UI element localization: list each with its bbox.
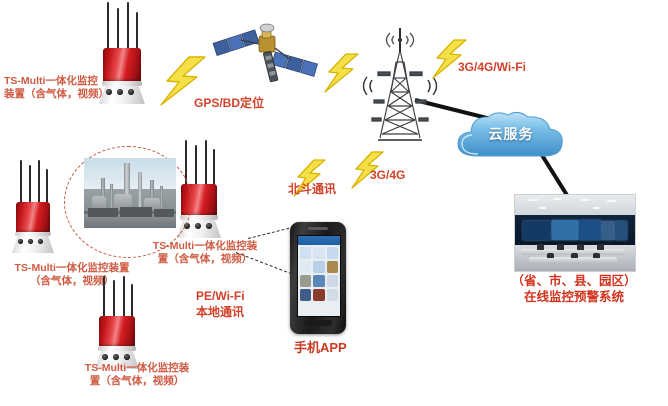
control-center-label: （省、市、县、园区） 在线监控预警系统	[484, 274, 664, 305]
monitoring-control-center-photo	[514, 194, 636, 272]
petrochemical-plant-photo	[84, 158, 176, 228]
cloud-service-label: 云服务	[471, 124, 551, 144]
cellular-wifi-link-label: 3G/4G/Wi-Fi	[458, 60, 588, 75]
local-comm-link-label: PE/Wi-Fi 本地通讯	[196, 288, 306, 320]
phone-app-label: 手机APP	[294, 340, 384, 356]
navigation-satellite	[207, 6, 325, 92]
sensor-device-top-left-label: TS-Multi一体化监控 装置（含气体，视频）	[4, 75, 124, 101]
gps-bd-link-label: GPS/BD定位	[194, 96, 324, 111]
diagram-canvas: 云服务 TS-Multi一体化监控 装置（含气体，视频） TS-Multi一体化…	[0, 0, 668, 406]
sensor-device-mid-left	[8, 160, 64, 258]
sensor-device-bottom	[90, 276, 148, 372]
cellular-3g4g-link-label: 3G/4G	[370, 168, 440, 183]
sensor-device-bottom-label: TS-Multi一体化监控装 置（含气体，视频）	[62, 362, 212, 388]
bolt-satellite-to-tower	[320, 52, 364, 98]
